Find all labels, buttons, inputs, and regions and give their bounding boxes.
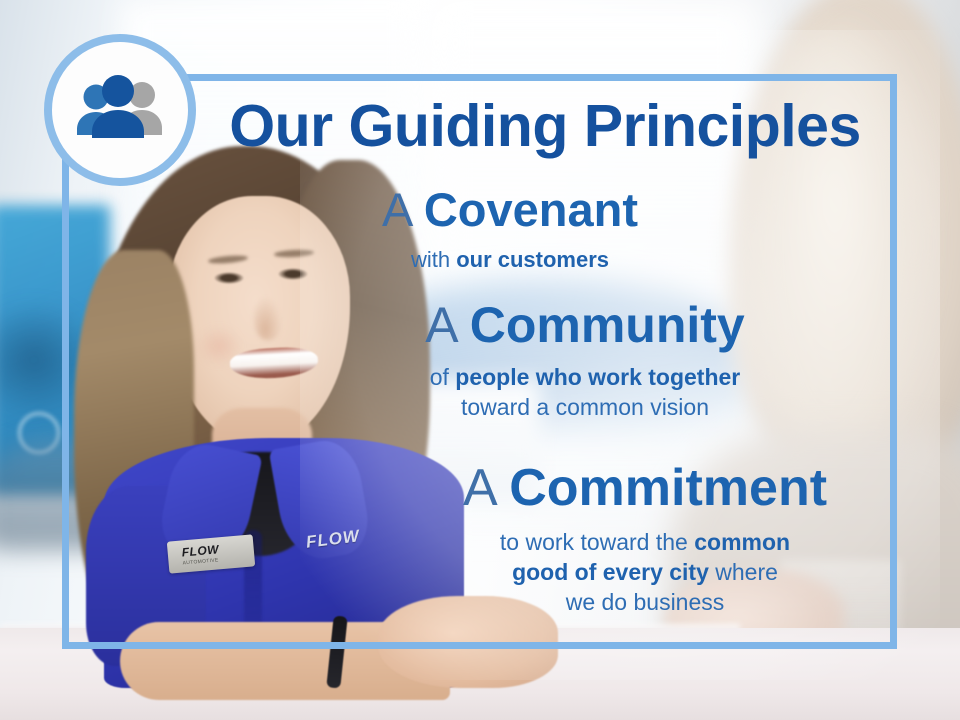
subtext-line: with our customers [300, 246, 720, 275]
principle-covenant-article: A [382, 183, 424, 236]
subtext-line: we do business [410, 588, 880, 618]
subtext-line: of people who work together [350, 363, 820, 393]
group-of-people-icon [71, 74, 169, 146]
subtext-line: toward a common vision [350, 393, 820, 423]
principle-covenant-subtext: with our customers [300, 246, 720, 275]
principle-community: A Community of people who work togethert… [350, 300, 820, 423]
principle-community-subtext: of people who work togethertoward a comm… [350, 363, 820, 423]
principle-community-heading: A Community [350, 300, 820, 351]
principle-community-word: Community [470, 297, 745, 353]
principle-commitment-article: A [463, 459, 509, 517]
principle-commitment-heading: A Commitment [410, 462, 880, 515]
guiding-principles-banner: FLOW AUTOMOTIVE FLOW Our Guiding Princip… [0, 0, 960, 720]
principle-community-article: A [425, 297, 469, 353]
subtext-line: good of every city where [410, 558, 880, 588]
principle-covenant: A Covenant with our customers [300, 186, 720, 275]
principle-covenant-word: Covenant [424, 183, 638, 236]
page-title: Our Guiding Principles [215, 92, 875, 160]
principle-commitment: A Commitment to work toward the commongo… [410, 462, 880, 618]
guiding-principles-badge [44, 34, 196, 186]
principle-covenant-heading: A Covenant [300, 186, 720, 234]
principle-commitment-word: Commitment [509, 459, 827, 517]
subtext-line: to work toward the common [410, 528, 880, 558]
principle-commitment-subtext: to work toward the commongood of every c… [410, 528, 880, 618]
